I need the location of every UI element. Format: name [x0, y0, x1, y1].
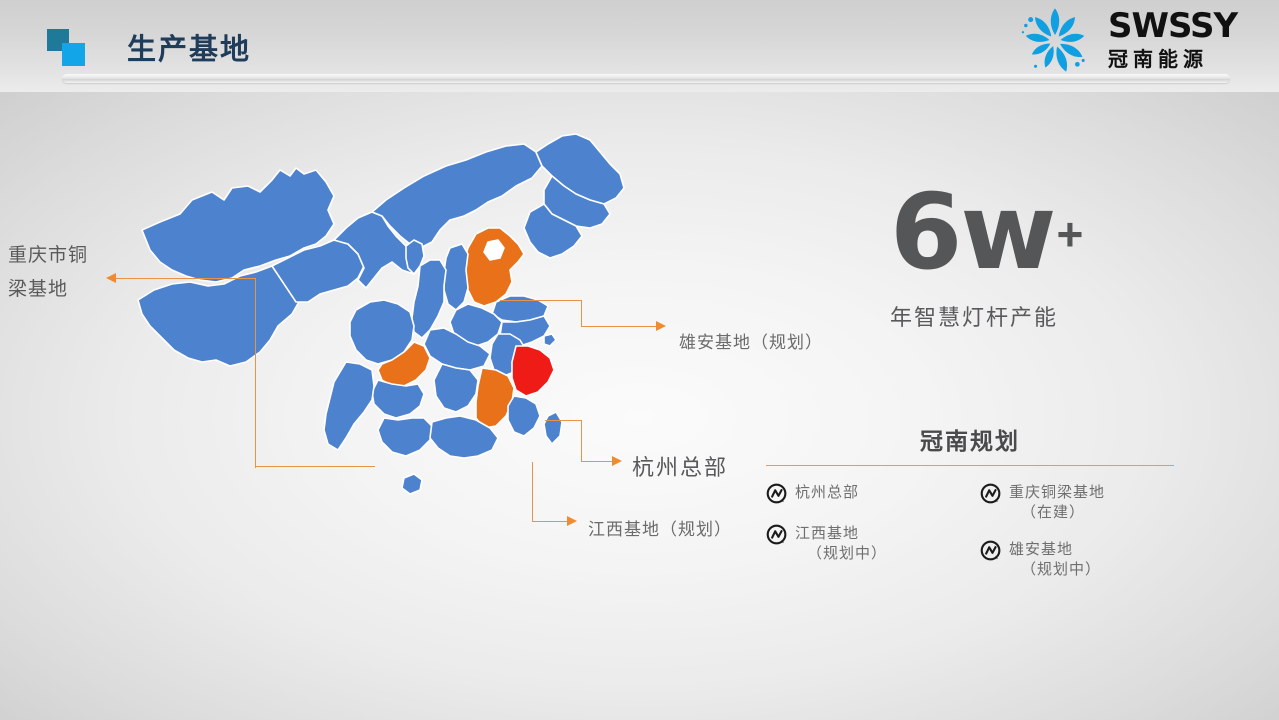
location-pulse-icon [980, 483, 1003, 506]
province-shanxi [444, 244, 468, 310]
capacity-caption: 年智慧灯杆产能 [890, 300, 1220, 332]
province-hainan [402, 474, 422, 494]
capacity-number: 6w [890, 171, 1054, 293]
location-pulse-icon [766, 524, 789, 547]
slide-root: 生产基地 [0, 0, 1279, 720]
legend-divider [766, 465, 1174, 466]
province-zhejiang-highlight [512, 346, 554, 396]
province-taiwan [544, 412, 562, 444]
company-logo: SWSSY 冠南能源 [1006, 4, 1261, 78]
location-pulse-icon [766, 483, 789, 506]
legend-column-right: 重庆铜梁基地 （在建） 雄安基地 （规划中） [970, 482, 1174, 596]
legend-item-text: 重庆铜梁基地 （在建） [1009, 482, 1105, 522]
legend-item-hangzhou[interactable]: 杭州总部 [766, 482, 970, 506]
location-pulse-icon [980, 540, 1003, 563]
province-fujian [508, 396, 540, 436]
capacity-plus-sign: + [1056, 208, 1083, 260]
legend-item-text: 雄安基地 （规划中） [1009, 539, 1101, 579]
legend-item-text: 杭州总部 [795, 482, 859, 502]
capacity-stat-block: 6w+ 年智慧灯杆产能 [890, 180, 1220, 332]
water-drop-petal-logo-icon [1006, 6, 1104, 76]
province-hunan [434, 364, 478, 412]
logo-text-block: SWSSY 冠南能源 [1108, 8, 1237, 72]
page-title: 生产基地 [127, 26, 251, 68]
legend-items: 杭州总部 江西基地 （规划中） [766, 482, 1174, 596]
legend-title: 冠南规划 [766, 422, 1174, 456]
slide-header: 生产基地 [0, 0, 1279, 92]
province-guangxi [378, 418, 432, 456]
capacity-number-row: 6w+ [890, 180, 1220, 284]
callout-label-jiangxi: 江西基地（规划） [588, 515, 732, 540]
china-map-svg [120, 130, 680, 570]
legend-item-xiongan[interactable]: 雄安基地 （规划中） [980, 539, 1174, 579]
legend-item-chongqing[interactable]: 重庆铜梁基地 （在建） [980, 482, 1174, 522]
callout-label-hangzhou: 杭州总部 [632, 450, 728, 482]
legend-column-left: 杭州总部 江西基地 （规划中） [766, 482, 970, 596]
legend-item-text: 江西基地 （规划中） [795, 523, 887, 563]
callout-label-chongqing: 重庆市铜 梁基地 [8, 238, 118, 306]
china-map [120, 130, 680, 570]
header-decor-square-light [62, 43, 85, 66]
city-shanghai [544, 334, 556, 346]
logo-wordmark: SWSSY [1108, 8, 1237, 44]
legend-panel: 冠南规划 杭州总部 [766, 422, 1174, 596]
province-yunnan [324, 362, 374, 450]
city-beijing [484, 240, 504, 260]
logo-chinese-name: 冠南能源 [1108, 46, 1237, 72]
province-hebei-highlight [464, 228, 524, 306]
province-inner-mongolia [372, 144, 542, 248]
legend-item-jiangxi[interactable]: 江西基地 （规划中） [766, 523, 970, 563]
province-guizhou [372, 380, 424, 418]
callout-label-xiongan: 雄安基地（规划） [679, 328, 823, 353]
